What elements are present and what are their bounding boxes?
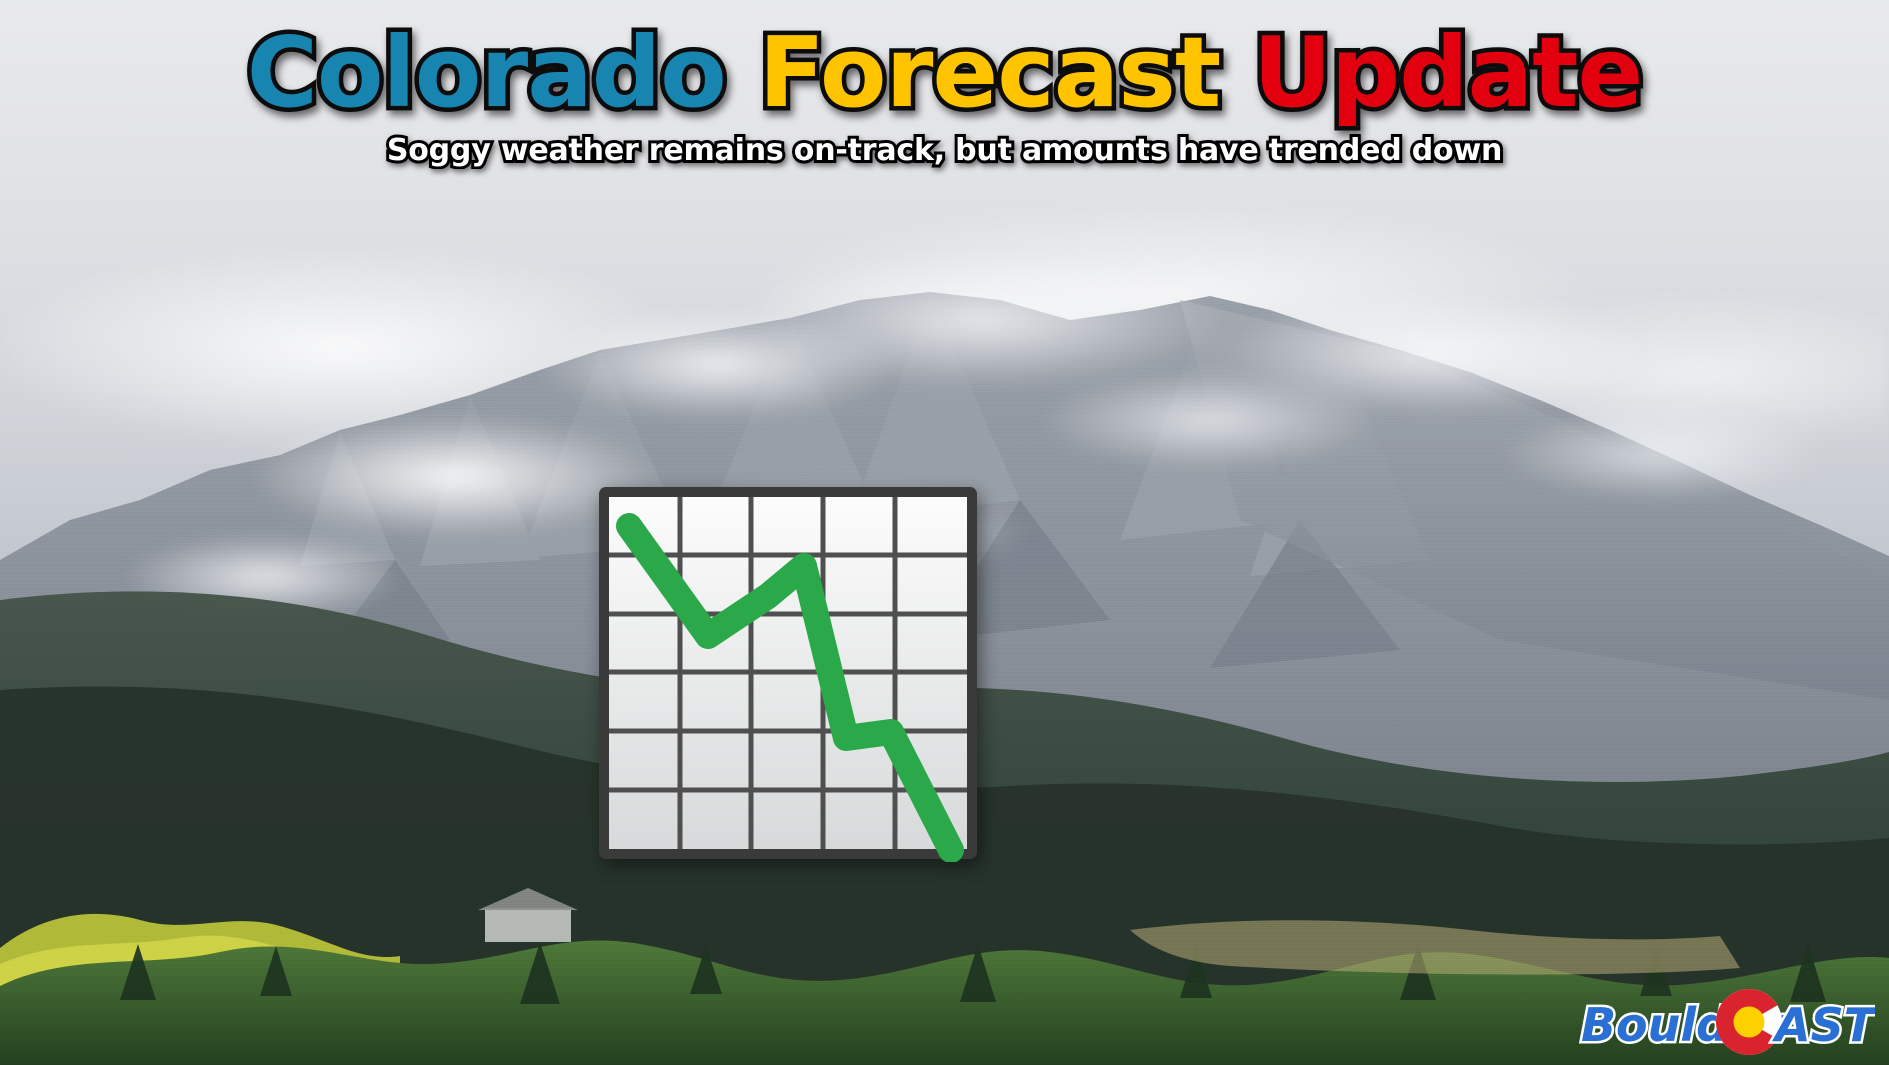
bouldercast-logo[interactable]: Boulder AST [1579,985,1875,1059]
colorado-c-icon [1716,989,1782,1055]
forecast-banner: Colorado Forecast Update Soggy weather r… [0,0,1889,1065]
logo-text-ast: AST [1772,998,1875,1052]
declining-line-chart-icon [596,484,980,862]
